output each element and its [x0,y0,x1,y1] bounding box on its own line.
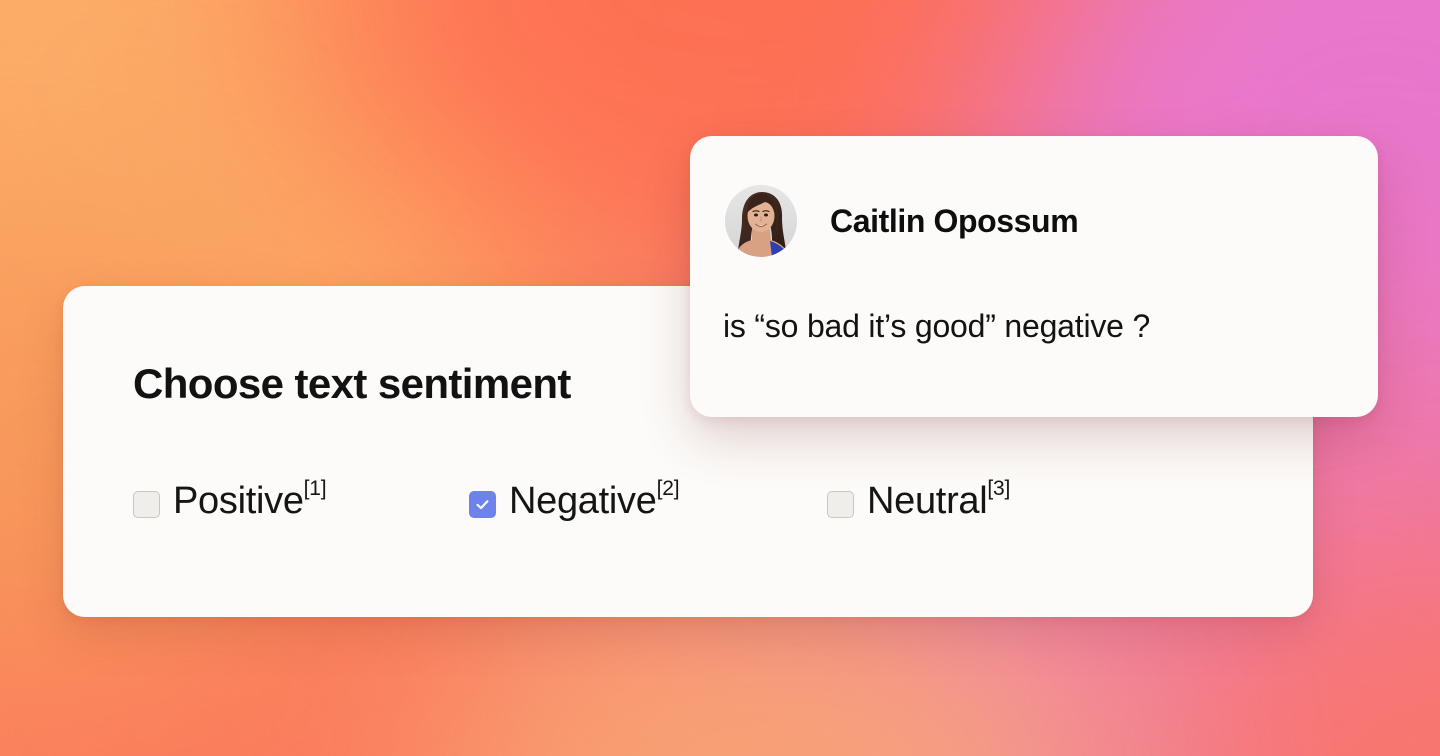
message-card: Caitlin Opossum is “so bad it’s good” ne… [690,136,1378,417]
message-text: is “so bad it’s good” negative ? [723,308,1150,345]
sentiment-option-label-negative: Negative [509,482,657,520]
checkbox-unchecked-icon[interactable] [133,491,160,518]
sentiment-option-negative[interactable]: Negative[2] [469,482,827,520]
checkbox-unchecked-icon[interactable] [827,491,854,518]
sentiment-options-group: Positive[1] Negative[2] Neutral[3] [133,482,1127,520]
sentiment-option-label-neutral: Neutral [867,482,987,520]
avatar [725,185,797,257]
sentiment-option-neutral[interactable]: Neutral[3] [827,482,1127,520]
sentiment-option-positive[interactable]: Positive[1] [133,482,469,520]
sentiment-option-label-positive: Positive [173,482,304,520]
screenshot-stage: Choose text sentiment Positive[1] Negati… [0,0,1440,756]
message-author-row: Caitlin Opossum [725,185,1078,257]
page-title: Choose text sentiment [133,360,571,408]
message-author-name: Caitlin Opossum [830,203,1078,240]
checkbox-checked-icon[interactable] [469,491,496,518]
